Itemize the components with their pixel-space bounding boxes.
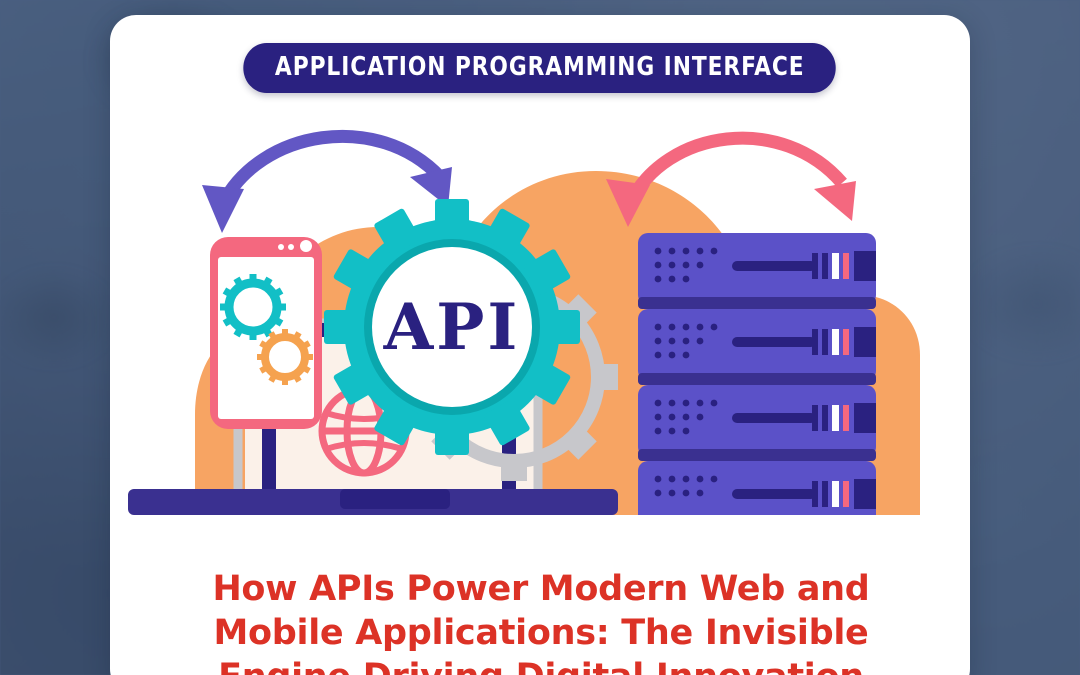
page-title: How APIs Power Modern Web and Mobile App… bbox=[196, 567, 886, 675]
server-unit bbox=[638, 461, 876, 515]
arrow-left-purple bbox=[202, 136, 452, 233]
badge-container: APPLICATION PROGRAMMING INTERFACE bbox=[110, 43, 970, 93]
server-unit bbox=[638, 233, 876, 309]
api-gear-label: API bbox=[383, 290, 521, 365]
status-badge: APPLICATION PROGRAMMING INTERFACE bbox=[244, 43, 837, 93]
smartphone-with-gears bbox=[210, 237, 322, 429]
server-rack bbox=[634, 233, 882, 515]
server-unit bbox=[638, 309, 876, 385]
article-card: APPLICATION PROGRAMMING INTERFACE bbox=[110, 15, 970, 675]
server-unit bbox=[638, 385, 876, 461]
hero-illustration: API bbox=[110, 115, 970, 515]
